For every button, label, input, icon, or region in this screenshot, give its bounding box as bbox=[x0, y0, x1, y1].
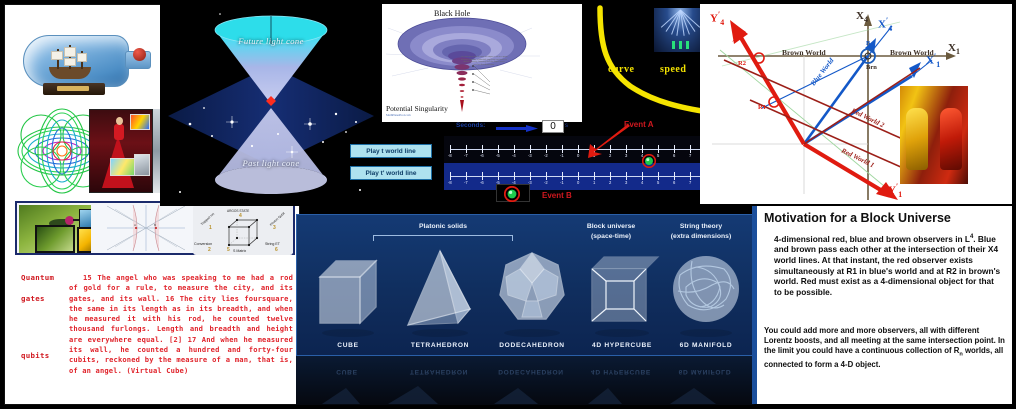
solid-item-hypercube: 4D HYPERCUBE bbox=[579, 215, 665, 357]
multi-image-diagram-panel: A B ARGOS STATE Trapped Ion 1 Conversio bbox=[15, 201, 295, 255]
event-a-label: Event A bbox=[624, 120, 654, 129]
svg-text:B: B bbox=[154, 223, 156, 227]
argos-number-3: 3 bbox=[273, 225, 276, 231]
reflection-label-hypercube: 4D HYPERCUBE bbox=[578, 368, 664, 375]
seconds-label: Seconds: bbox=[456, 122, 485, 129]
ship-sail bbox=[64, 47, 76, 57]
reflection-shadows bbox=[296, 382, 754, 405]
model-head bbox=[116, 117, 123, 125]
yellow-speedster bbox=[906, 108, 928, 170]
reflection-label-cube: CUBE bbox=[304, 368, 390, 375]
speed-word: speed bbox=[660, 64, 686, 75]
solid-item-tetrahedron: TETRAHEDRON bbox=[397, 215, 483, 357]
tprime-number-line[interactable]: -8 -7 -6 -5 -4 -3 -2 -1 0 1 2 3 4 5 6 7 … bbox=[444, 163, 716, 190]
axis-label-x1: X1 bbox=[948, 42, 960, 56]
play-t-worldline-button[interactable]: Play t world line bbox=[350, 144, 432, 158]
argos-number-1: 1 bbox=[209, 225, 212, 231]
keyword-quantum: Quantum bbox=[21, 273, 54, 282]
svg-text:A: A bbox=[134, 223, 136, 227]
seconds-unit-label: s bbox=[565, 123, 568, 129]
dodecahedron-icon bbox=[492, 243, 572, 341]
hyperbola-plot-svg: A B bbox=[103, 203, 189, 253]
butterfly-thumbnail bbox=[77, 227, 91, 253]
solid-label-hypercube: 4D HYPERCUBE bbox=[579, 342, 665, 349]
argos-label-s-matrix: S Matrix bbox=[233, 249, 246, 253]
stage-lights-photo bbox=[654, 8, 706, 52]
reflection-label-tetrahedron: TETRAHEDRON bbox=[396, 368, 482, 375]
argos-number-6: 6 bbox=[275, 247, 278, 253]
reflection-label-manifold: 6D MANIFOLD bbox=[662, 368, 748, 375]
solid-label-manifold: 6D MANIFOLD bbox=[663, 342, 749, 349]
ship-sail bbox=[51, 51, 63, 60]
axis-label-yprime4: Y′4 bbox=[710, 10, 724, 27]
solid-label-cube: CUBE bbox=[305, 342, 391, 349]
argos-state-diagram: ARGOS STATE Trapped Ion 1 Conversion 2 P… bbox=[193, 205, 293, 255]
red-speedster bbox=[940, 108, 962, 170]
point-b-label: B bbox=[866, 40, 870, 47]
point-r2-label: R2 bbox=[738, 60, 746, 67]
cube-icon bbox=[308, 243, 388, 341]
brown-world-right-label: Brown World bbox=[890, 48, 934, 57]
manifold-icon bbox=[666, 243, 746, 341]
keyword-qubits: qubits bbox=[21, 351, 50, 360]
black-hole-fineprint: The amount of time it takes an object to… bbox=[460, 56, 508, 90]
event-a-marker[interactable] bbox=[642, 154, 656, 168]
dress-bodice bbox=[114, 124, 124, 140]
axis-label-xprime4: X′4 bbox=[878, 16, 892, 33]
event-a-arrow-icon bbox=[576, 124, 632, 158]
keyword-gates: gates bbox=[21, 294, 45, 303]
play-tprime-worldline-button[interactable]: Play t' world line bbox=[350, 166, 432, 180]
argos-label-trapped-ion: Trapped Ion bbox=[200, 212, 215, 226]
event-b-marker[interactable] bbox=[504, 186, 520, 202]
red-dress-photo bbox=[89, 109, 153, 193]
solid-item-manifold: 6D MANIFOLD bbox=[663, 215, 749, 357]
argos-number-5: 5 bbox=[227, 247, 230, 253]
axis-label-yprime1: Y′1 bbox=[888, 182, 902, 199]
argos-number-2: 2 bbox=[208, 247, 211, 253]
ship-in-bottle-image bbox=[21, 27, 161, 99]
motivation-paragraph-2: You could add more and more observers, a… bbox=[764, 326, 1006, 370]
solid-label-dodecahedron: DODECAHEDRON bbox=[489, 342, 575, 349]
argos-cube-svg bbox=[223, 215, 265, 249]
curve-word: curve bbox=[608, 64, 634, 75]
seconds-arrow-icon bbox=[496, 125, 538, 132]
solid-item-cube: CUBE bbox=[305, 215, 391, 357]
black-hole-source: MathPlaneProd.com bbox=[386, 113, 411, 117]
point-r1-label: R1 bbox=[758, 104, 766, 111]
black-hole-title: Black Hole bbox=[434, 9, 470, 18]
ship-sail bbox=[64, 58, 76, 66]
future-light-cone-label: Future light cone bbox=[196, 36, 346, 46]
worldline-player[interactable]: Seconds: 0 s Play t world line Play t' w… bbox=[344, 120, 716, 204]
past-light-cone-label: Past light cone bbox=[196, 158, 346, 168]
argos-label-photon-qubit: Photon Qubit bbox=[269, 211, 286, 226]
argos-label-conversion: Conversion bbox=[194, 242, 212, 246]
two-speedsters-photo bbox=[900, 86, 968, 184]
solids-panel: Platonic solids Block universe (space-ti… bbox=[296, 214, 754, 356]
event-b-marker-box[interactable] bbox=[496, 184, 530, 202]
minkowski-diagram: Y′4 Y′1 X4 X1 X′4 X′1 Brown World Brown … bbox=[700, 4, 1012, 204]
curve-speed-area: curve speed bbox=[582, 4, 710, 122]
motivation-accent-bar bbox=[752, 206, 757, 404]
bottle-body bbox=[23, 35, 129, 87]
motivation-p1-part-a: 4-dimensional red, blue and brown observ… bbox=[774, 234, 970, 244]
hummingbird-photo bbox=[19, 205, 91, 253]
hypercube-icon bbox=[582, 243, 662, 341]
thumbnail-landscape bbox=[110, 158, 136, 176]
black-hole-diagram: Black Hole Potential Singularity MathPla… bbox=[382, 4, 582, 122]
collage-canvas: A B ARGOS STATE Trapped Ion 1 Conversio bbox=[0, 0, 1016, 409]
thumbnail-art bbox=[130, 114, 150, 130]
potential-singularity-label: Potential Singularity bbox=[386, 104, 448, 113]
point-brn-label: Brn bbox=[866, 64, 877, 71]
motivation-paragraph-1: 4-dimensional red, blue and brown observ… bbox=[774, 232, 1004, 297]
brown-world-left-label: Brown World bbox=[782, 48, 826, 57]
thumbnail-trophy bbox=[134, 154, 150, 176]
scripture-body-text: 15 The angel who was speaking to me had … bbox=[69, 273, 293, 376]
argos-number-4: 4 bbox=[239, 213, 242, 219]
solid-label-tetrahedron: TETRAHEDRON bbox=[397, 342, 483, 349]
motivation-title: Motivation for a Block Universe bbox=[764, 211, 951, 225]
event-b-label: Event B bbox=[542, 191, 572, 200]
tetrahedron-icon bbox=[400, 243, 480, 341]
argos-label-string-et: String ET bbox=[265, 242, 280, 246]
leaf-thumbnail bbox=[35, 225, 75, 253]
seconds-value-field[interactable]: 0 bbox=[542, 120, 564, 133]
axis-label-x4: X4 bbox=[856, 10, 868, 24]
solids-panel-reflection: CUBE TETRAHEDRON DODECAHEDRON 4D HYPERCU… bbox=[296, 356, 754, 405]
scripture-text-block: Quantum gates qubits 15 The angel who wa… bbox=[21, 273, 293, 391]
bottle-nameplate bbox=[57, 86, 89, 91]
reflection-label-dodecahedron: DODECAHEDRON bbox=[488, 368, 574, 375]
motivation-panel: Motivation for a Block Universe 4-dimens… bbox=[752, 206, 1012, 404]
solid-item-dodecahedron: DODECAHEDRON bbox=[489, 215, 575, 357]
bottle-cork bbox=[133, 48, 146, 61]
ship-sail bbox=[77, 53, 87, 62]
